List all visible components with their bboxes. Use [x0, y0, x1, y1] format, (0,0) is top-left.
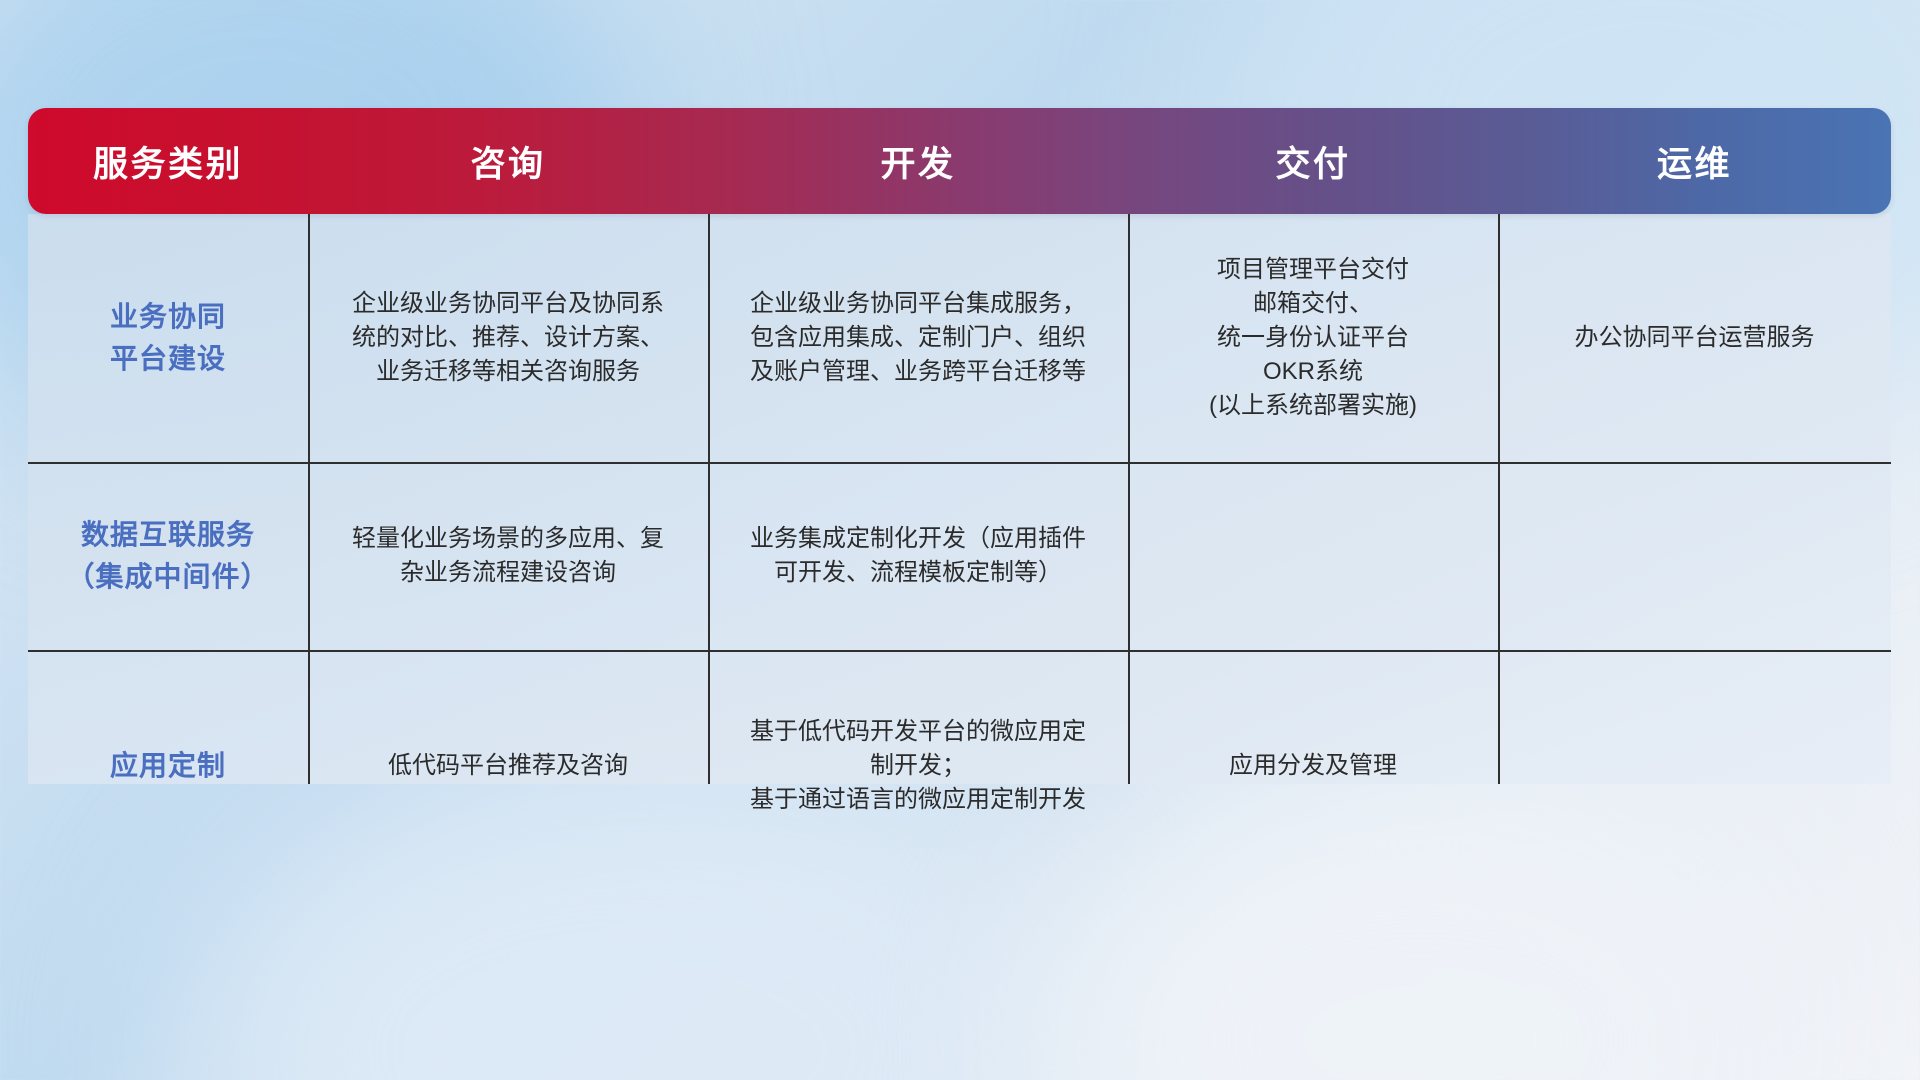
row-label-line: 平台建设: [42, 338, 294, 380]
cell-line: 办公协同平台运营服务: [1512, 321, 1877, 355]
row-label-business-collaboration: 业务协同 平台建设: [28, 214, 308, 462]
table-body: 业务协同 平台建设 企业级业务协同平台及协同系 统的对比、推荐、设计方案、 业务…: [28, 214, 1891, 882]
header-spacer-3: [708, 108, 1128, 214]
table: 业务协同 平台建设 企业级业务协同平台及协同系 统的对比、推荐、设计方案、 业务…: [28, 108, 1891, 882]
cell-delivery-row3: 应用分发及管理: [1128, 650, 1498, 882]
cell-line: 企业级业务协同平台及协同系: [322, 287, 694, 321]
table-row: 业务协同 平台建设 企业级业务协同平台及协同系 统的对比、推荐、设计方案、 业务…: [28, 214, 1891, 462]
cell-operations-row1: 办公协同平台运营服务: [1498, 214, 1891, 462]
cell-consulting-row3: 低代码平台推荐及咨询: [308, 650, 708, 882]
row-label-app-customization: 应用定制: [28, 650, 308, 882]
header-spacer-5: [1498, 108, 1891, 214]
table-row: 应用定制 低代码平台推荐及咨询 基于低代码开发平台的微应用定 制开发； 基于通过…: [28, 650, 1891, 882]
row-label-line: （集成中间件）: [42, 556, 294, 598]
cell-line: 邮箱交付、: [1142, 287, 1484, 321]
cell-development-row3: 基于低代码开发平台的微应用定 制开发； 基于通过语言的微应用定制开发: [708, 650, 1128, 882]
cell-delivery-row2: [1128, 462, 1498, 650]
cell-line: 业务集成定制化开发（应用插件: [722, 522, 1114, 556]
cell-line: OKR系统: [1142, 355, 1484, 389]
cell-line: 包含应用集成、定制门户、组织: [722, 321, 1114, 355]
table-row: 数据互联服务 （集成中间件） 轻量化业务场景的多应用、复 杂业务流程建设咨询 业…: [28, 462, 1891, 650]
cell-line: 可开发、流程模板定制等）: [722, 556, 1114, 590]
cell-line: 应用分发及管理: [1142, 749, 1484, 783]
header-spacer-row: [28, 108, 1891, 214]
cell-line: 基于低代码开发平台的微应用定: [722, 715, 1114, 749]
cell-line: 及账户管理、业务跨平台迁移等: [722, 355, 1114, 389]
row-label-line: 应用定制: [42, 745, 294, 787]
cell-line: 业务迁移等相关咨询服务: [322, 355, 694, 389]
cell-line: 统一身份认证平台: [1142, 321, 1484, 355]
cell-consulting-row2: 轻量化业务场景的多应用、复 杂业务流程建设咨询: [308, 462, 708, 650]
cell-operations-row3: [1498, 650, 1891, 882]
cell-line: 制开发；: [722, 749, 1114, 783]
cell-line: 企业级业务协同平台集成服务，: [722, 287, 1114, 321]
cell-operations-row2: [1498, 462, 1891, 650]
cell-line: (以上系统部署实施): [1142, 389, 1484, 423]
row-label-line: 数据互联服务: [42, 514, 294, 556]
row-label-line: 业务协同: [42, 296, 294, 338]
cell-development-row2: 业务集成定制化开发（应用插件 可开发、流程模板定制等）: [708, 462, 1128, 650]
cell-development-row1: 企业级业务协同平台集成服务， 包含应用集成、定制门户、组织 及账户管理、业务跨平…: [708, 214, 1128, 462]
cell-line: 统的对比、推荐、设计方案、: [322, 321, 694, 355]
cell-line: 项目管理平台交付: [1142, 253, 1484, 287]
header-spacer-1: [28, 108, 308, 214]
service-matrix-table: 服务类别 咨询 开发 交付 运维: [28, 108, 1891, 784]
cell-consulting-row1: 企业级业务协同平台及协同系 统的对比、推荐、设计方案、 业务迁移等相关咨询服务: [308, 214, 708, 462]
cell-line: 轻量化业务场景的多应用、复: [322, 522, 694, 556]
cell-line: 基于通过语言的微应用定制开发: [722, 783, 1114, 817]
row-label-data-interconnect: 数据互联服务 （集成中间件）: [28, 462, 308, 650]
header-spacer-4: [1128, 108, 1498, 214]
cell-line: 低代码平台推荐及咨询: [322, 749, 694, 783]
cell-line: 杂业务流程建设咨询: [322, 556, 694, 590]
header-spacer-2: [308, 108, 708, 214]
cell-delivery-row1: 项目管理平台交付 邮箱交付、 统一身份认证平台 OKR系统 (以上系统部署实施): [1128, 214, 1498, 462]
